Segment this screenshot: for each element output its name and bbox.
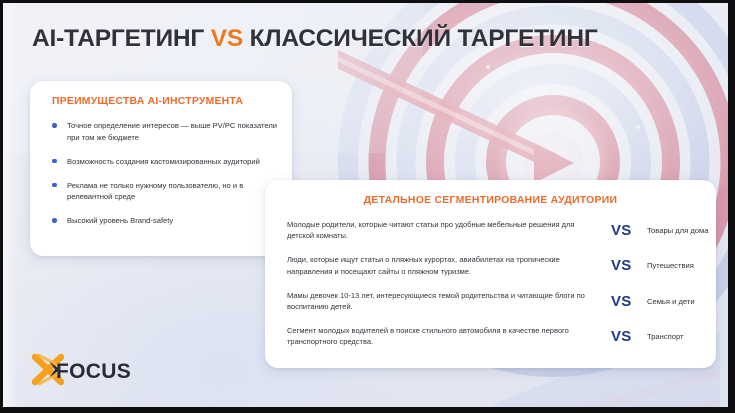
list-item: Возможность создания кастомизированных а… (52, 156, 280, 168)
list-item: Реклама не только нужному пользователю, … (52, 180, 280, 203)
left-light-band (3, 3, 17, 407)
bullet-dot-icon (52, 218, 57, 223)
segment-description: Сегмент молодых водителей в поиске стиль… (287, 325, 611, 347)
page-title: AI-ТАРГЕТИНГ VS КЛАССИЧЕСКИЙ ТАРГЕТИНГ (32, 25, 598, 53)
bullet-dot-icon (52, 183, 57, 188)
list-item: Точное определение интересов — выше PV/P… (52, 120, 280, 143)
focus-logo-mark-icon: FOCUS (32, 353, 152, 387)
bullet-dot-icon (52, 123, 57, 128)
segment-description: Люди, которые ищут статьи о пляжных куро… (287, 254, 611, 276)
list-item: Высокий уровень Brand-safety (52, 215, 280, 227)
table-row: Сегмент молодых водителей в поиске стиль… (287, 325, 700, 347)
table-row: Люди, которые ищут статьи о пляжных куро… (287, 254, 700, 276)
vs-separator: VS (611, 328, 647, 345)
screenshot-frame: AI-ТАРГЕТИНГ VS КЛАССИЧЕСКИЙ ТАРГЕТИНГ П… (0, 0, 735, 413)
focus-logo: FOCUS (32, 353, 152, 387)
segmentation-card: ДЕТАЛЬНОЕ СЕГМЕНТИРОВАНИЕ АУДИТОРИИ Моло… (265, 180, 716, 368)
segmentation-heading: ДЕТАЛЬНОЕ СЕГМЕНТИРОВАНИЕ АУДИТОРИИ (265, 195, 716, 206)
advantage-text: Возможность создания кастомизированных а… (67, 157, 260, 166)
page-title-vs: VS (211, 25, 243, 52)
vs-separator: VS (611, 257, 647, 274)
segment-description: Мамы девочек 10-13 лет, интересующиеся т… (287, 290, 611, 312)
advantages-card: ПРЕИМУЩЕСТВА AI-ИНСТРУМЕНТА Точное опред… (30, 81, 292, 256)
table-row: Молодые родители, которые читают статьи … (287, 219, 700, 241)
segment-description: Молодые родители, которые читают статьи … (287, 219, 611, 241)
focus-logo-text: FOCUS (56, 360, 131, 383)
segment-label: Транспорт (647, 332, 700, 341)
vs-separator: VS (611, 222, 647, 239)
vs-separator: VS (611, 293, 647, 310)
segmentation-rows: Молодые родители, которые читают статьи … (287, 219, 700, 348)
advantage-text: Точное определение интересов — выше PV/P… (67, 121, 277, 142)
presentation-slide: AI-ТАРГЕТИНГ VS КЛАССИЧЕСКИЙ ТАРГЕТИНГ П… (3, 3, 728, 407)
segment-label: Путешествия (647, 261, 700, 270)
segment-label: Семья и дети (647, 297, 700, 306)
segment-label: Товары для дома (647, 226, 708, 235)
advantage-text: Высокий уровень Brand-safety (67, 216, 173, 225)
advantage-text: Реклама не только нужному пользователю, … (67, 181, 243, 202)
page-title-part-1: AI-ТАРГЕТИНГ (32, 25, 211, 52)
advantages-list: Точное определение интересов — выше PV/P… (52, 120, 280, 227)
advantages-heading: ПРЕИМУЩЕСТВА AI-ИНСТРУМЕНТА (52, 96, 243, 107)
table-row: Мамы девочек 10-13 лет, интересующиеся т… (287, 290, 700, 312)
page-title-part-2: КЛАССИЧЕСКИЙ ТАРГЕТИНГ (243, 25, 598, 52)
bullet-dot-icon (52, 159, 57, 164)
